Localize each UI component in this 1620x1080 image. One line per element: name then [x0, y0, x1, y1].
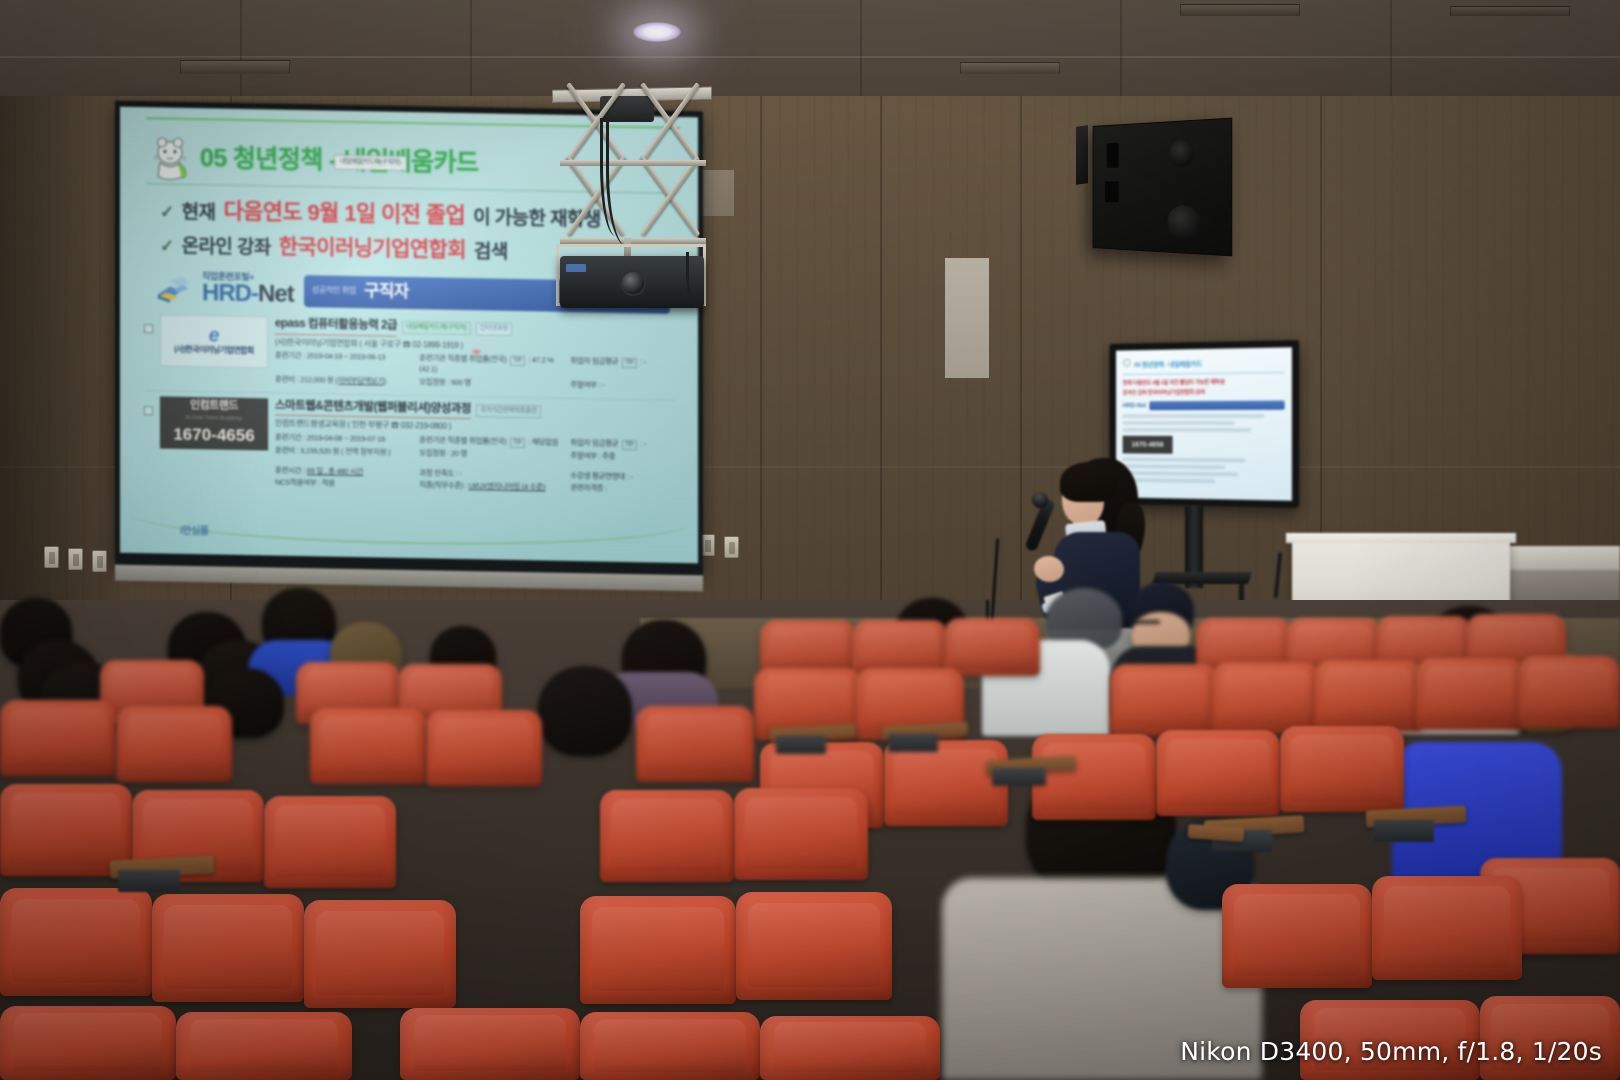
ceiling-vent — [960, 62, 1060, 74]
seat[interactable] — [0, 888, 152, 996]
seat[interactable] — [310, 708, 426, 784]
seat[interactable] — [884, 740, 1008, 826]
seat[interactable] — [1212, 662, 1320, 734]
course-tag: 국가기간전략직종훈련 — [476, 404, 541, 418]
course-listing-row[interactable]: 인컴트랜드 In Com Trend Academy 1670-4656 스마트… — [144, 396, 674, 495]
academy-subtitle: In Com Trend Academy — [186, 415, 242, 423]
ceiling — [0, 0, 1620, 96]
tiger-mascot-icon-small — [1123, 358, 1132, 369]
bullet-1-highlight: 다음연도 9월 1일 이전 졸업 — [223, 197, 465, 231]
course-listing-row[interactable]: e (사)한국이러닝기업연합회 epass 컴퓨터활용능력 2급 내일배움카드제… — [144, 314, 674, 391]
speaker-port — [1107, 143, 1119, 168]
course-tooltip: 내일배움카드제(구직자) — [334, 155, 407, 171]
hrd-net-logo: 직업훈련포털+ HRD-Net — [156, 271, 294, 307]
hrd-net-mark-icon — [156, 274, 196, 303]
course-listings: e (사)한국이러닝기업연합회 epass 컴퓨터활용능력 2급 내일배움카드제… — [144, 314, 674, 495]
listing-thumb-caption: (사)한국이러닝기업연합회 — [174, 345, 254, 357]
wall-panel — [945, 258, 989, 378]
seat-arm-bracket — [888, 734, 938, 752]
academy-phone: 1670-4656 — [173, 424, 254, 448]
seat[interactable] — [1518, 656, 1620, 728]
academy-brand: 인컴트랜드 — [190, 398, 238, 414]
course-field-grid: 훈련기간 : 2019-04-08 ~ 2019-07-16 훈련기관 직종별 … — [275, 433, 674, 496]
speaker-port — [1105, 181, 1119, 202]
listing-thumbnail: 인컴트랜드 In Com Trend Academy 1670-4656 — [160, 396, 268, 450]
e-logo-icon: e — [209, 326, 220, 345]
course-field: 훈련기관 직종별 취업률(전국) TIP : 47.2 %(42.1) — [419, 354, 564, 378]
seat[interactable] — [1372, 876, 1522, 980]
tiger-mascot-icon — [150, 135, 194, 182]
course-title[interactable]: 스마트웹&콘텐츠개발(웹퍼블리셔)양성과정 — [275, 398, 471, 419]
seat[interactable] — [264, 796, 396, 888]
course-field: 주말여부 : - — [570, 380, 674, 392]
wall-outlet[interactable] — [44, 546, 59, 568]
projector — [560, 256, 704, 308]
check-icon: ✓ — [160, 235, 174, 258]
wall-outlet[interactable] — [724, 536, 739, 558]
course-field: 모집정원 : 20 명 — [419, 448, 564, 461]
wall-outlet[interactable] — [92, 550, 107, 572]
monitor-hrd-brand: HRD-Net — [1123, 403, 1147, 409]
seat-arm-bracket — [118, 870, 180, 892]
projector-lens-icon — [620, 270, 646, 296]
course-field: 취업자 임금평균 TIP : - — [570, 356, 674, 379]
seat[interactable] — [580, 1012, 760, 1080]
monitor-line-1: 현재 다음연도 9월 1일 이전 졸업이 가능한 재학생 — [1123, 377, 1285, 387]
seat[interactable] — [1156, 730, 1280, 816]
course-title[interactable]: epass 컴퓨터활용능력 2급 — [275, 317, 397, 337]
camera-metadata: Nikon D3400, 50mm, f/1.8, 1/20s — [1180, 1037, 1602, 1066]
course-tag: 내일배움카드제(구직자) — [402, 321, 471, 335]
speaker-driver-icon — [1167, 205, 1200, 241]
slide-footer-mark: i안심품 — [180, 524, 208, 538]
course-tag: 인터넷과정 — [476, 323, 512, 336]
monitor-banner — [1149, 401, 1285, 411]
bullet-2-tail: 검색 — [474, 239, 508, 265]
course-field: 주말여부 : 주중 — [570, 451, 674, 463]
seat[interactable] — [1314, 660, 1422, 732]
seat-arm-bracket — [776, 736, 826, 754]
slide-title-number: 05 — [200, 142, 227, 176]
lectern-top — [1286, 533, 1516, 543]
wall-speaker — [1093, 118, 1233, 257]
listing-checkbox[interactable] — [144, 324, 153, 333]
ceiling-downlight — [633, 22, 681, 42]
seat[interactable] — [736, 892, 892, 1000]
speaker-driver-icon — [1169, 139, 1194, 166]
course-field: 훈련기간 : 2019-04-08 ~ 2019-07-16 — [275, 433, 413, 447]
course-field: 취업자 임금평균 TIP : - — [570, 438, 674, 451]
bullet-2-highlight: 한국이러닝기업연합회 — [279, 233, 466, 265]
seat[interactable] — [734, 788, 868, 880]
bullet-2-lead: 온라인 강좌 — [182, 234, 271, 261]
ceiling-vent — [180, 60, 290, 74]
listing-thumbnail: e (사)한국이러닝기업연합회 — [160, 314, 268, 368]
seat[interactable] — [176, 1012, 352, 1080]
seat[interactable] — [1416, 658, 1524, 730]
seat[interactable] — [944, 618, 1040, 676]
seat[interactable] — [636, 706, 754, 782]
presenter-hair-front — [1060, 462, 1118, 502]
course-field: 훈련비 : 212,000 원 (자비부담액보기) — [275, 374, 413, 387]
course-field: 훈련비 : 3,155,520 원 ( 전액 정부지원 ) — [275, 446, 413, 459]
seat[interactable] — [760, 1016, 940, 1080]
seat[interactable] — [0, 1006, 176, 1080]
seat[interactable] — [0, 700, 116, 776]
seat[interactable] — [400, 1008, 580, 1080]
banner-pretext: 성공적인 취업 — [312, 285, 356, 297]
hrd-brand: HRD-Net — [202, 279, 294, 308]
speaker-bracket — [1076, 125, 1088, 185]
seat[interactable] — [1110, 664, 1218, 736]
seat[interactable] — [1032, 734, 1156, 820]
course-field: NCS적용여부 : 적용 — [275, 478, 413, 491]
check-icon: ✓ — [160, 201, 174, 224]
auditorium-photo: 05 청년정책 - 내일배움카드 ✓ 현재 다음연도 9월 1일 이전 졸업 이… — [0, 0, 1620, 1080]
course-field: 관련자격증 : — [570, 483, 674, 495]
seat[interactable] — [116, 706, 232, 782]
course-field: 모집정원 : 500 명 — [419, 377, 564, 390]
course-field: 과정 만족도 : - — [419, 468, 564, 481]
course-field: 직종(직무수준) : UI/UX엔지니어링 (4 수준) — [419, 481, 564, 494]
laser-pointer-dot — [472, 349, 481, 354]
monitor-slide-title: 05 청년정책 - 내일배움카드 — [1123, 356, 1285, 370]
listing-checkbox[interactable] — [144, 406, 153, 415]
course-field-grid: 훈련기간 : 2019-04-19 ~ 2019-06-13 훈련기관 직종별 … — [275, 351, 674, 392]
seat[interactable] — [1222, 884, 1372, 988]
course-field: 수강생 평균연령대 : - — [570, 471, 674, 483]
wall-shadow-left — [0, 96, 120, 656]
monitor-line-2: 온라인 강좌 한국이러닝기업연합회 검색 — [1123, 387, 1285, 396]
course-field: 훈련시간 : 69 일 , 총 480 시간 — [275, 466, 413, 479]
seat-arm-bracket — [992, 768, 1046, 786]
wall-outlet[interactable] — [68, 548, 83, 570]
banner-main-text: 구직자 — [364, 280, 409, 304]
seat[interactable] — [304, 900, 456, 1008]
bullet-1-lead: 현재 — [182, 200, 216, 226]
course-field: 훈련기간 : 2019-04-19 ~ 2019-06-13 — [275, 351, 413, 375]
seat[interactable] — [600, 790, 734, 882]
seat[interactable] — [152, 894, 304, 1002]
course-field: 훈련기관 직종별 취업률(전국) TIP : 해당없음 — [419, 435, 564, 449]
audience-head — [538, 666, 632, 756]
seat[interactable] — [1280, 726, 1404, 812]
ceiling-vent — [1450, 6, 1570, 16]
audience-glasses — [1124, 620, 1160, 624]
seat-arm-bracket — [1374, 820, 1434, 842]
seat[interactable] — [426, 710, 542, 786]
projector-brand-label — [566, 264, 586, 272]
ceiling-vent — [1180, 4, 1300, 16]
seat[interactable] — [580, 896, 736, 1004]
